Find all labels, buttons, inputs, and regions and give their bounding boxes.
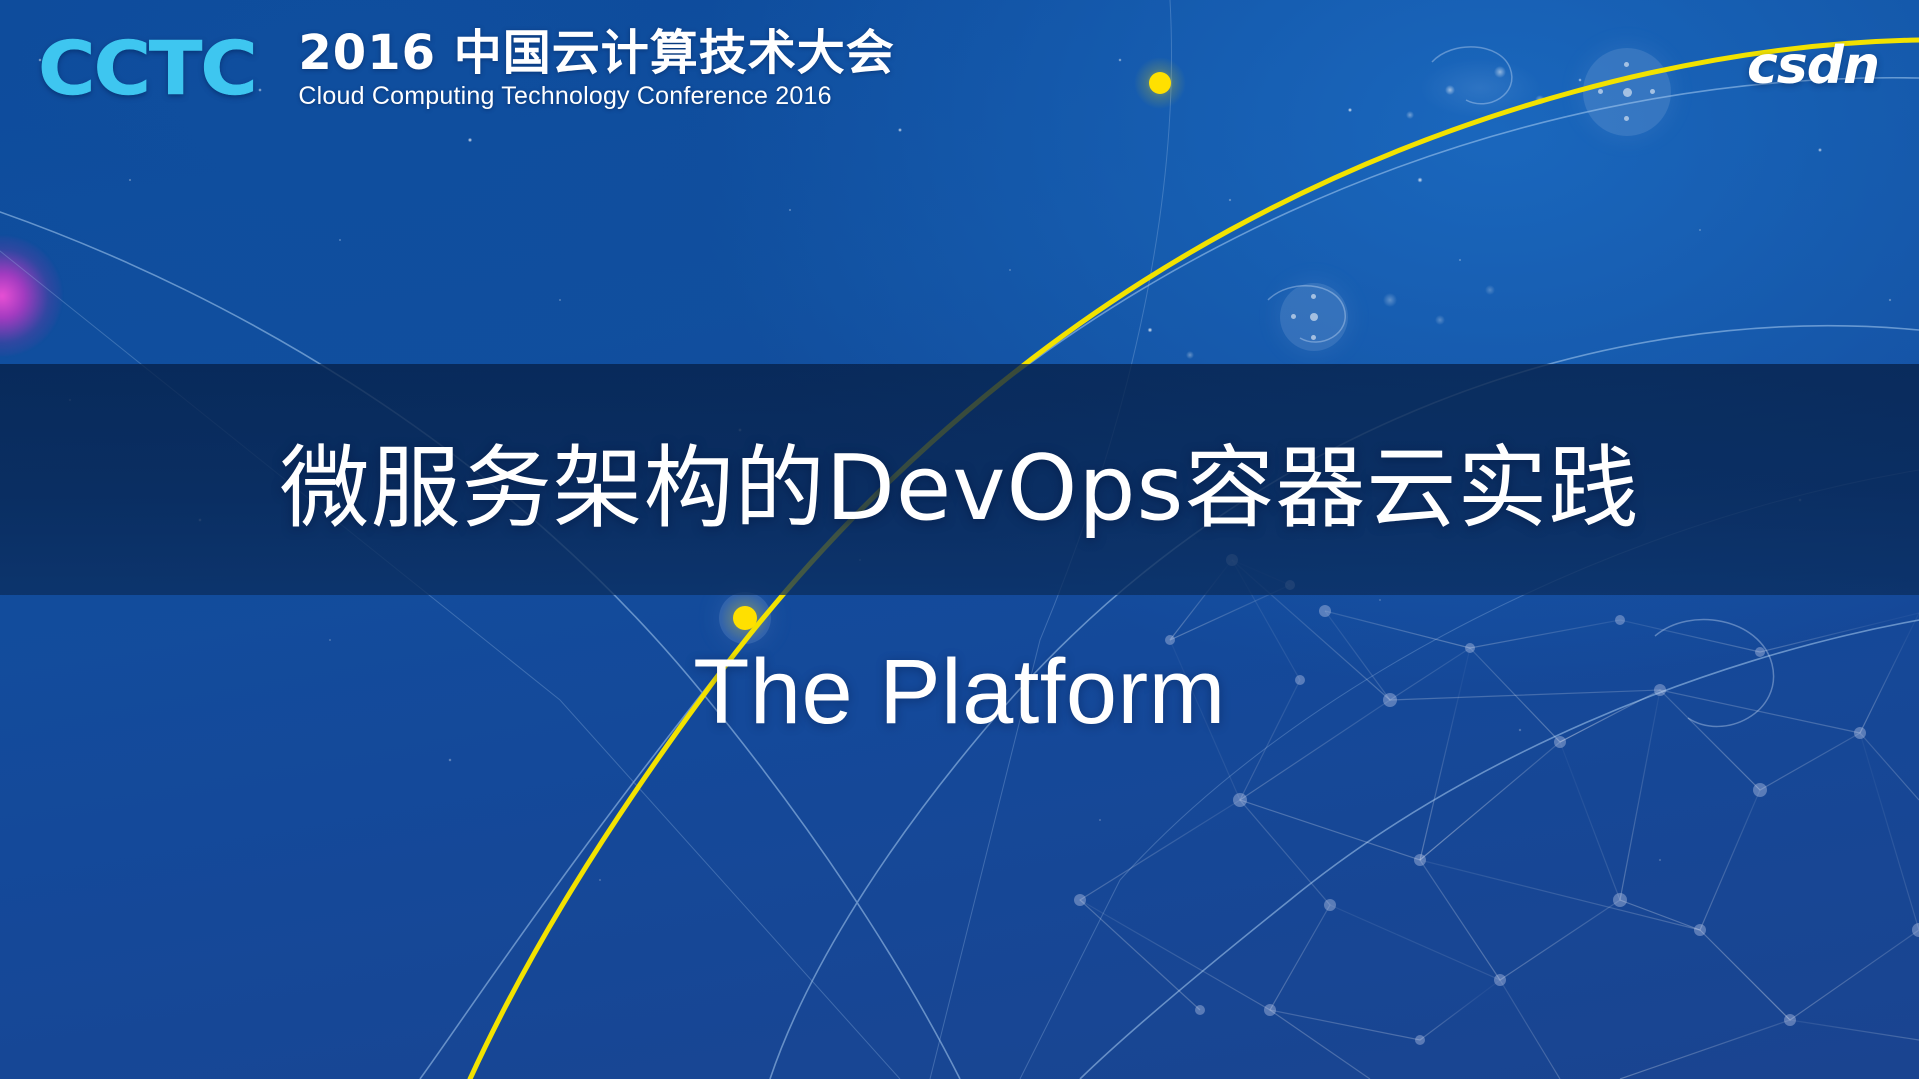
csdn-logo: csdn <box>1747 36 1879 96</box>
yellow-node-center <box>733 606 757 630</box>
disc-pip <box>1311 335 1316 340</box>
disc-pip <box>1624 116 1629 121</box>
disc-pip <box>1311 294 1316 299</box>
yellow-node-glow-2 <box>721 594 769 642</box>
disc-pip <box>1310 313 1318 321</box>
conference-name-cn: 2016 中国云计算技术大会 <box>298 28 894 79</box>
translucent-disc-top-right <box>1583 48 1671 136</box>
page-subtitle: The Platform <box>0 640 1919 745</box>
network-mesh <box>1080 560 1919 1079</box>
disc-pip <box>1650 89 1655 94</box>
disc-pip <box>1291 314 1296 319</box>
network-nodes <box>1074 554 1919 1045</box>
logo-divider <box>265 34 268 104</box>
translucent-disc-center <box>719 592 771 644</box>
translucent-disc-mid-right <box>1280 283 1348 351</box>
yellow-node-glow <box>1134 57 1186 109</box>
slide-canvas: CCTC 2016 中国云计算技术大会 Cloud Computing Tech… <box>0 0 1919 1079</box>
conference-logo-lockup: CCTC 2016 中国云计算技术大会 Cloud Computing Tech… <box>38 28 895 111</box>
magenta-glow-orb <box>0 236 62 356</box>
yellow-node-top <box>1149 72 1171 94</box>
disc-pip <box>1623 88 1632 97</box>
cctc-wordmark: CCTC <box>38 34 256 104</box>
swirl-mid <box>1268 286 1345 342</box>
disc-pip <box>1598 89 1603 94</box>
disc-pip <box>1624 62 1629 67</box>
conference-title-block: 2016 中国云计算技术大会 Cloud Computing Technolog… <box>298 28 894 111</box>
page-title: 微服务架构的DevOps容器云实践 <box>0 364 1919 595</box>
conference-name-en: Cloud Computing Technology Conference 20… <box>298 82 894 111</box>
swirl-top <box>1432 47 1512 104</box>
